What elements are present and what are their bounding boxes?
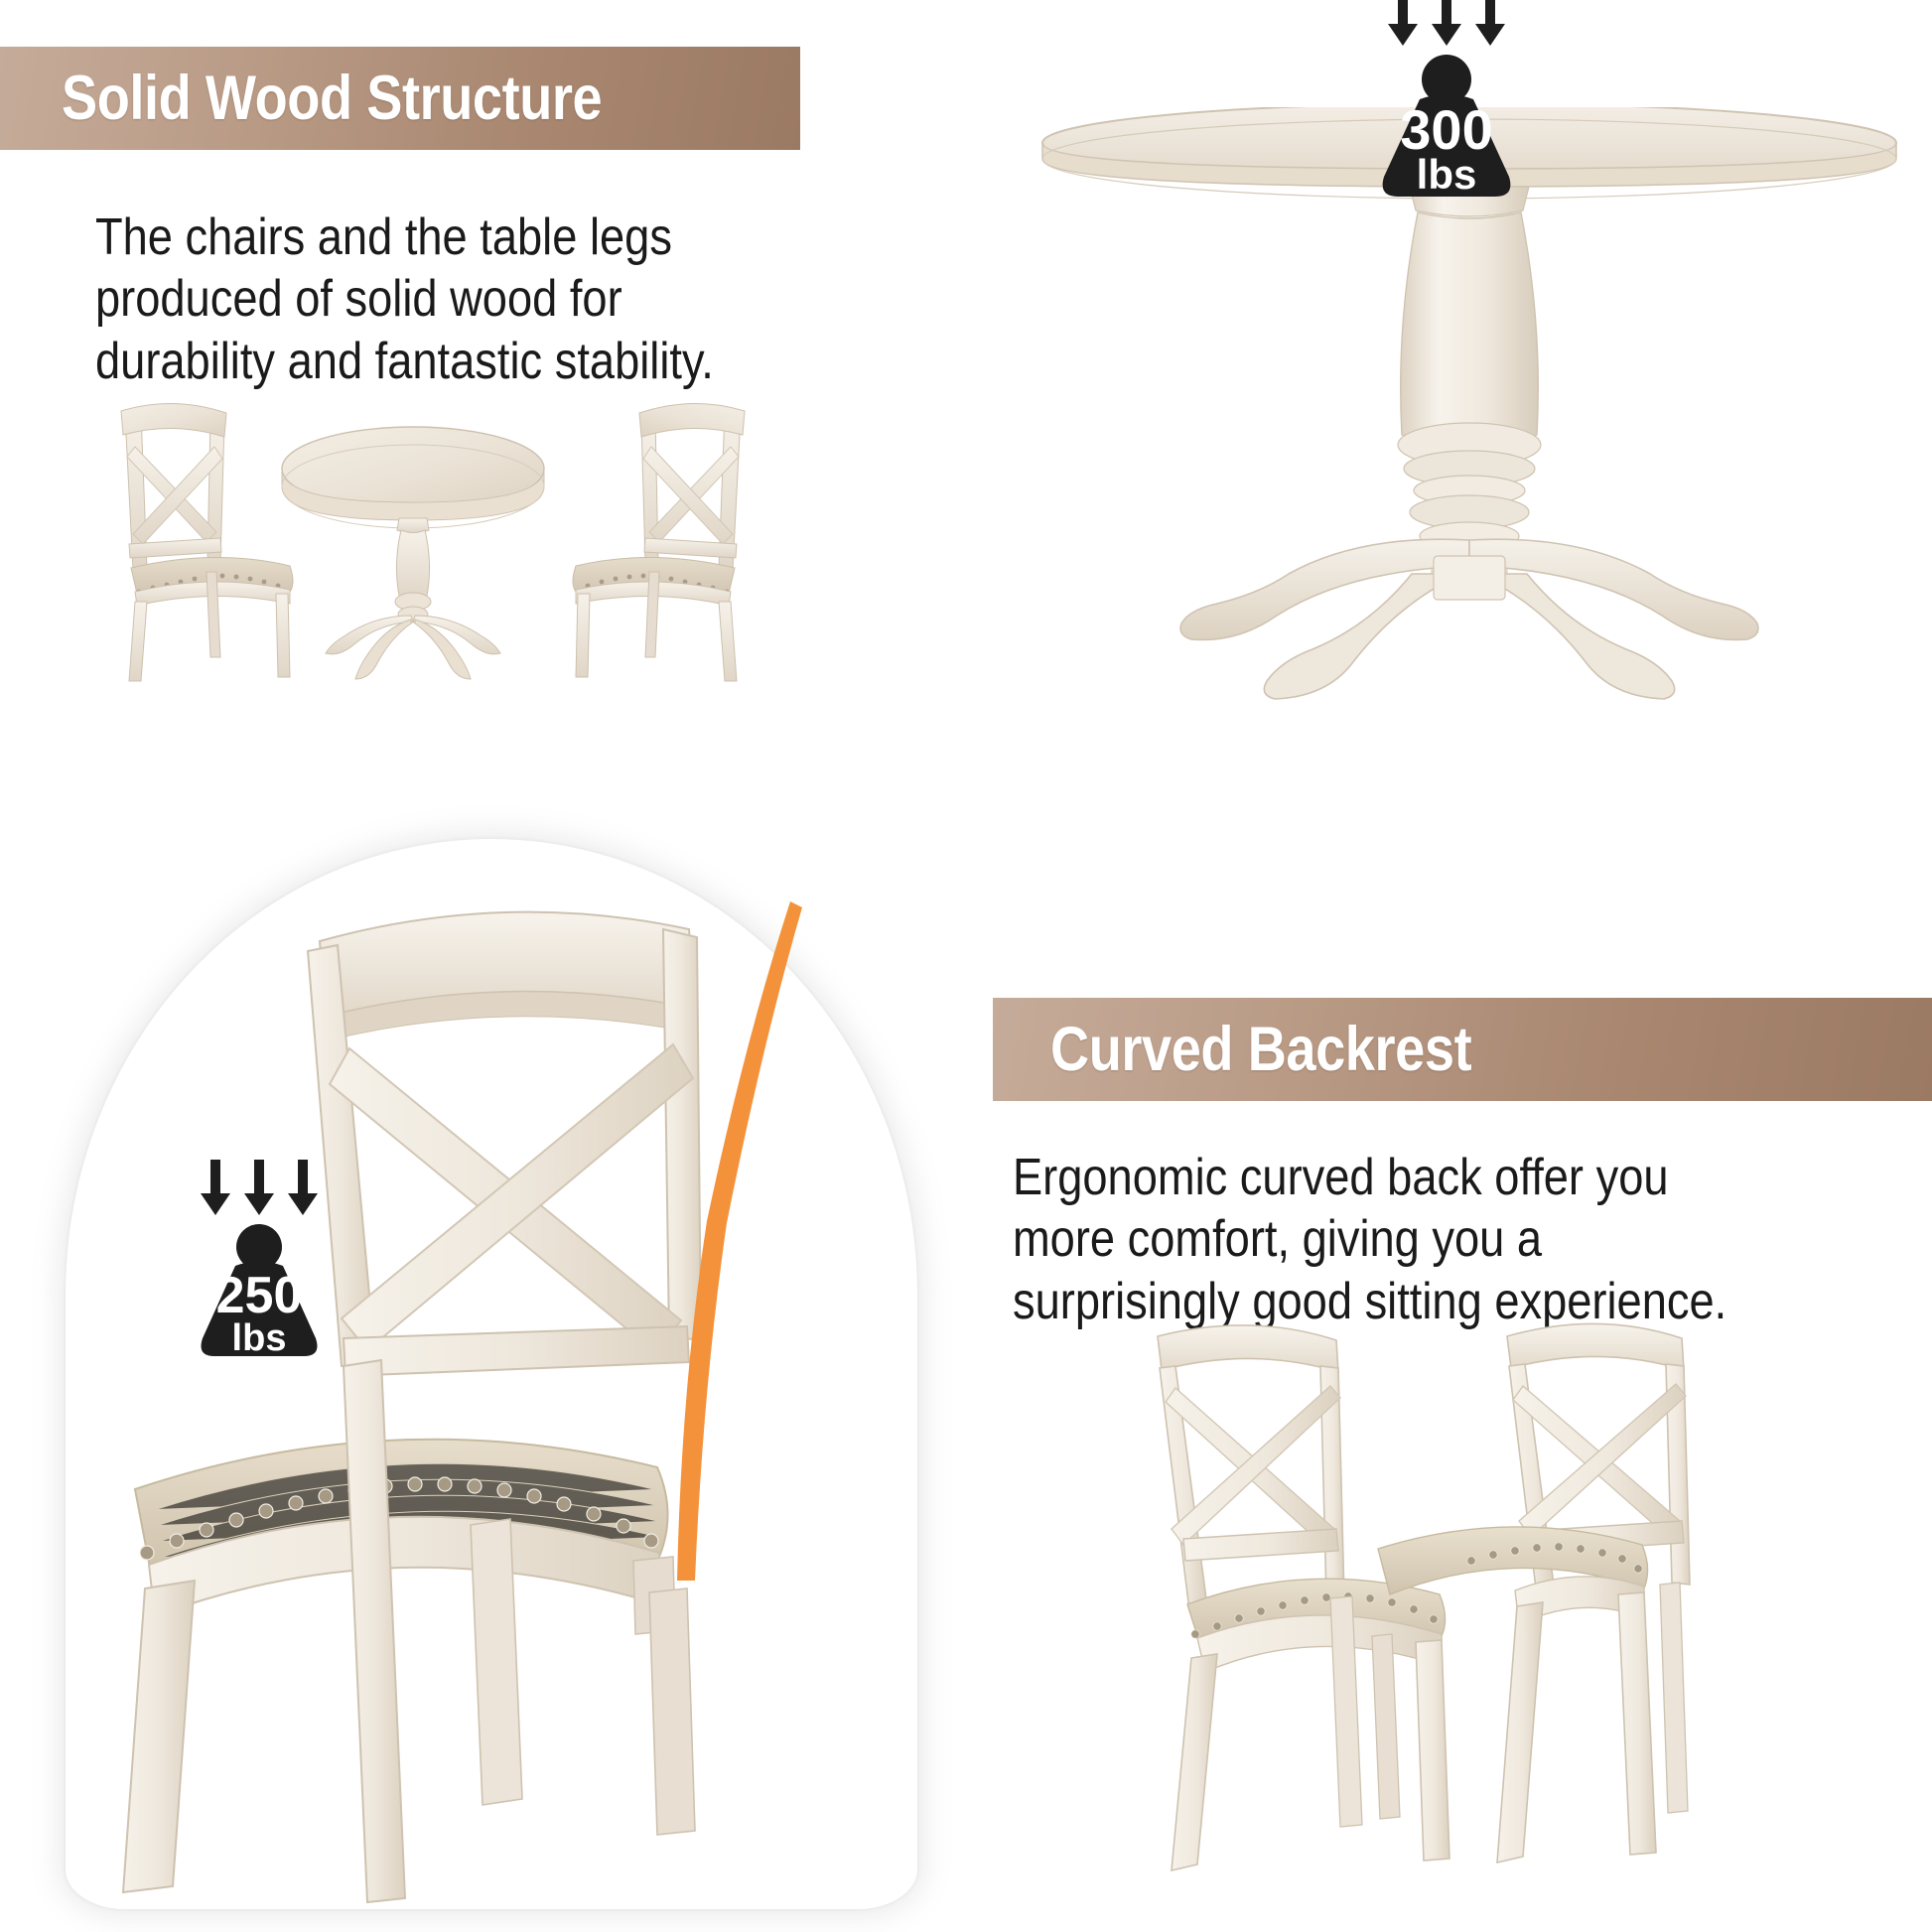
load-arrows-table [1342,0,1551,52]
dining-chair-right [573,403,745,681]
image-two-chairs [1122,1309,1817,1924]
weight-badge-chair: 250 lbs [167,1160,351,1367]
body-text-solid-wood: The chairs and the table legs produced o… [95,207,838,392]
banner-title-solid-wood: Solid Wood Structure [62,63,602,134]
chair-front-left [1158,1325,1449,1870]
image-dining-set [95,397,770,685]
banner-title-curved-backrest: Curved Backrest [1050,1014,1471,1085]
down-arrow-icon [199,1160,232,1221]
accent-curve-orange [596,894,824,1588]
weight-badge-table: 300 lbs [1342,0,1551,207]
infographic-canvas: Solid Wood Structure The chairs and the … [0,0,1932,1932]
weight-value-chair: 250 [216,1267,303,1324]
down-arrow-icon [1386,0,1420,52]
down-arrow-icon [242,1160,276,1221]
weight-icon-chair: 250 lbs [167,1223,351,1367]
down-arrow-icon [286,1160,320,1221]
dining-chair-left [121,403,293,681]
down-arrow-icon [1430,0,1463,52]
banner-solid-wood: Solid Wood Structure [0,47,800,150]
weight-unit-table: lbs [1417,151,1477,198]
weight-unit-chair: lbs [232,1317,287,1359]
body-text-curved-backrest: Ergonomic curved back offer you more com… [1013,1147,1932,1332]
load-arrows-chair [167,1160,351,1221]
weight-icon-table: 300 lbs [1342,54,1551,207]
down-arrow-icon [1473,0,1507,52]
dining-table [282,427,544,679]
banner-curved-backrest: Curved Backrest [993,998,1932,1101]
